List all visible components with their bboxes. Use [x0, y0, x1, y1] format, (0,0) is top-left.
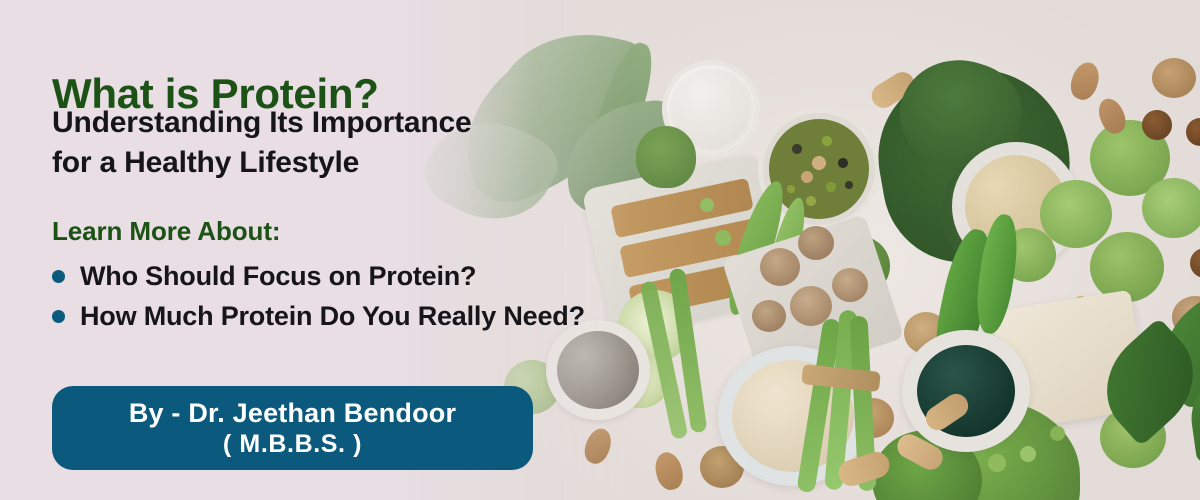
list-item-label: Who Should Focus on Protein?	[80, 261, 476, 292]
broccoli-floret-icon	[636, 126, 696, 188]
author-qualification: ( M.B.B.S. )	[223, 429, 362, 459]
walnut-icon	[1152, 58, 1196, 98]
brussels-sprout-icon	[1142, 178, 1200, 238]
green-pea-icon	[700, 198, 714, 212]
list-item-label: How Much Protein Do You Really Need?	[80, 301, 585, 332]
green-pea-icon	[1050, 426, 1065, 441]
brussels-sprout-icon	[1040, 180, 1112, 248]
mushroom-icon	[798, 226, 834, 260]
subtitle-line-2: for a Healthy Lifestyle	[52, 143, 471, 183]
bullet-dot-icon	[52, 270, 65, 283]
list-item[interactable]: How Much Protein Do You Really Need?	[52, 296, 585, 336]
mushroom-icon	[832, 268, 868, 302]
topics-list: Who Should Focus on Protein? How Much Pr…	[52, 256, 585, 336]
green-pea-icon	[1020, 446, 1036, 462]
list-item[interactable]: Who Should Focus on Protein?	[52, 256, 585, 296]
article-banner: What is Protein? Understanding Its Impor…	[0, 0, 1200, 500]
subtitle: Understanding Its Importance for a Healt…	[52, 103, 471, 183]
mushroom-icon	[760, 248, 800, 286]
mushroom-icon	[752, 300, 786, 332]
learn-more-label: Learn More About:	[52, 216, 280, 247]
green-pea-icon	[715, 230, 731, 246]
subtitle-line-1: Understanding Its Importance	[52, 103, 471, 143]
green-pea-icon	[988, 454, 1006, 472]
bullet-dot-icon	[52, 310, 65, 323]
hazelnut-icon	[1142, 110, 1172, 140]
author-badge: By - Dr. Jeethan Bendoor ( M.B.B.S. )	[52, 386, 533, 470]
spirulina-bowl	[902, 330, 1030, 452]
author-name: By - Dr. Jeethan Bendoor	[129, 397, 456, 429]
